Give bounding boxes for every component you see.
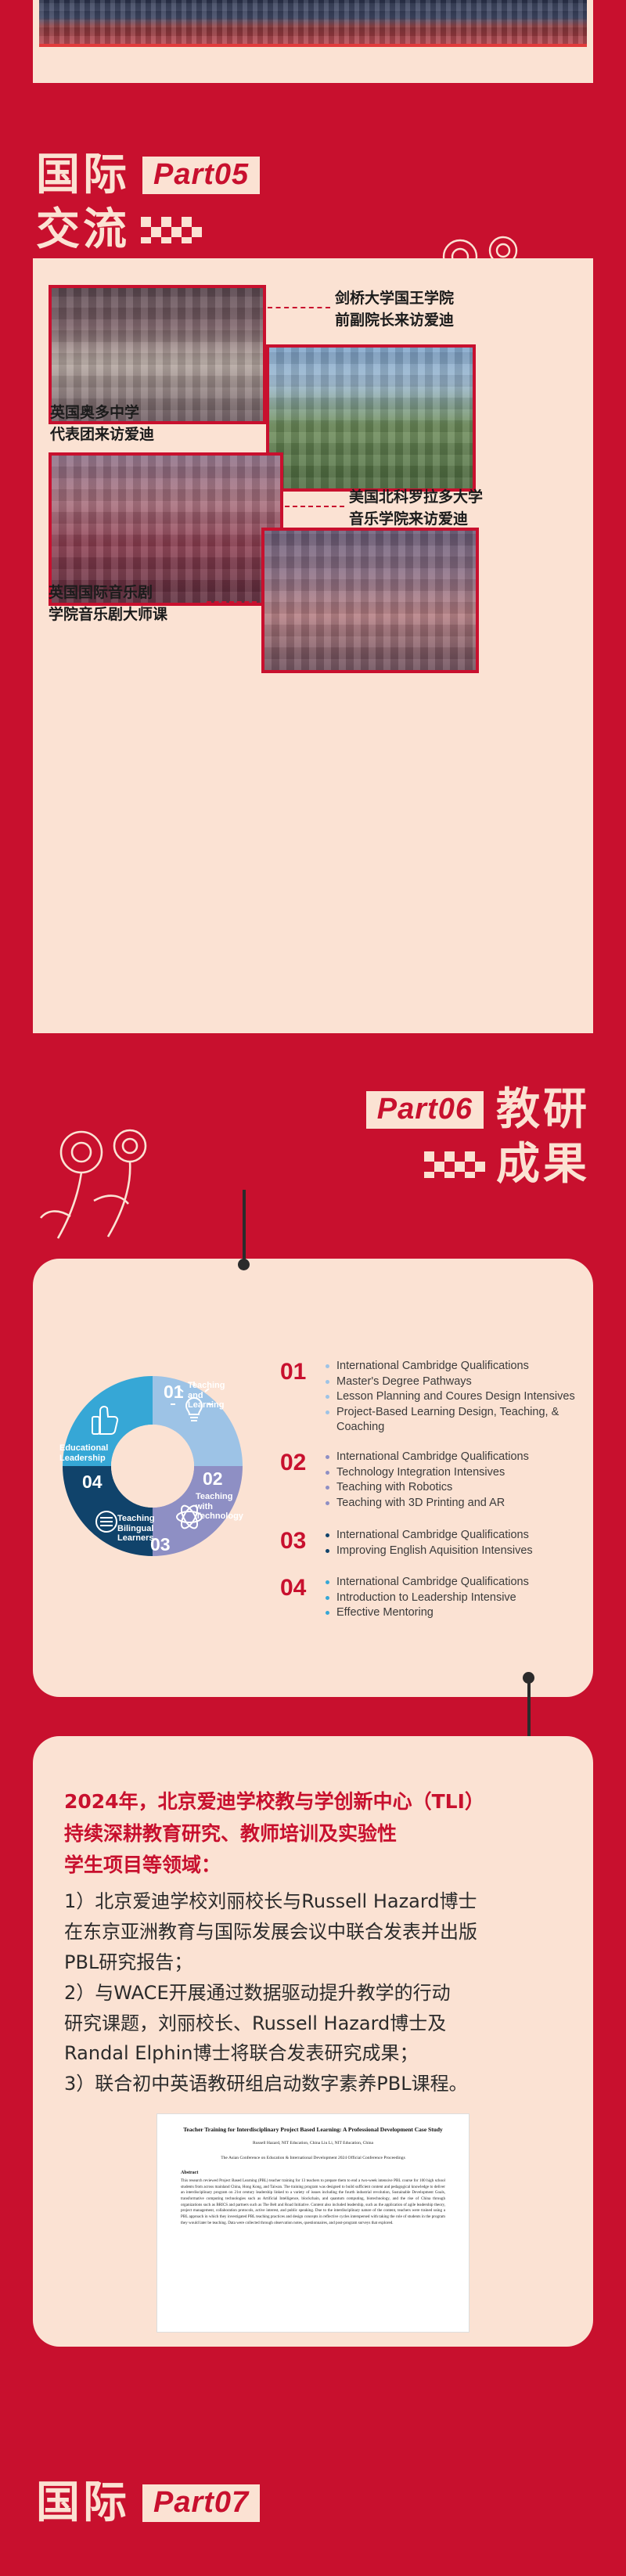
part06-title-cn-line2: 成果: [496, 1143, 590, 1187]
paper-authors: Russell Hazard, NIT Education, China Liu…: [181, 2140, 445, 2146]
donut-num-01: 01: [164, 1382, 184, 1403]
donut-num-02: 02: [203, 1468, 223, 1490]
group-num-02: 02: [280, 1450, 318, 1511]
paper-abstract: This research reviewed Project Based Lea…: [181, 2178, 445, 2226]
scallop-divider-top: [33, 83, 593, 100]
flower-doodle-icon-2: [33, 1119, 182, 1245]
group-num-01: 01: [280, 1359, 318, 1436]
scallop-divider-bottom: [33, 1033, 593, 1050]
framework-group-04: 04 International Cambridge Qualification…: [280, 1575, 577, 1621]
part06-title-cn-line1: 教研: [496, 1088, 590, 1132]
donut-label-02: Teaching with Technology: [196, 1492, 247, 1522]
top-group-photo: [39, 0, 587, 47]
donut-label-03: Teaching Bilingual Learners: [117, 1514, 166, 1544]
list-item: International Cambridge Qualifications: [326, 1575, 529, 1591]
photo-uk-musical: [261, 528, 479, 673]
pin-line-1: [243, 1190, 246, 1265]
paper-title: Teacher Training for Interdisciplinary P…: [181, 2125, 445, 2134]
list-item: International Cambridge Qualifications: [326, 1450, 529, 1465]
framework-group-01: 01 International Cambridge Qualification…: [280, 1359, 577, 1436]
pin-dot-1: [238, 1259, 250, 1270]
group-num-03: 03: [280, 1528, 318, 1558]
tli-heading: 2024年，北京爱迪学校教与学创新中心（TLI） 持续深耕教育研究、教师培训及实…: [64, 1786, 565, 1882]
donut-label-04: Educational Leadership: [59, 1443, 119, 1463]
leader-line-3: [285, 506, 344, 507]
list-item: Improving English Aquisition Intensives: [326, 1544, 533, 1559]
paper-conference: The Asian Conference on Education & Inte…: [181, 2155, 445, 2161]
paper-abstract-heading: Abstract: [181, 2171, 445, 2175]
checker-pattern-icon: [141, 217, 202, 243]
part06-title-block: Part06 教研 成果: [366, 1088, 590, 1187]
list-item: International Cambridge Qualifications: [326, 1528, 533, 1544]
donut-label-01: Teaching and Learning: [188, 1381, 236, 1410]
list-item: Introduction to Leadership Intensive: [326, 1591, 529, 1606]
part05-title-cn-line2: 交流: [36, 208, 130, 252]
caption-unc-music: 美国北科罗拉多大学 音乐学院来访爱迪: [349, 487, 552, 530]
list-item: Teaching with 3D Printing and AR: [326, 1496, 529, 1511]
framework-group-02: 02 International Cambridge Qualification…: [280, 1450, 577, 1511]
group-list-03: International Cambridge Qualifications I…: [326, 1528, 533, 1558]
part06-badge: Part06: [366, 1091, 484, 1129]
checker-pattern-icon-2: [424, 1151, 485, 1178]
list-item: Technology Integration Intensives: [326, 1465, 529, 1481]
part05-gallery-panel: 剑桥大学国王学院 前副院长来访爱迪 英国奥多中学 代表团来访爱迪 美国北科罗拉多…: [33, 258, 593, 1033]
part05-badge: Part05: [142, 157, 260, 194]
list-item: Master's Degree Pathways: [326, 1374, 577, 1390]
group-num-04: 04: [280, 1575, 318, 1621]
donut-num-04: 04: [82, 1472, 103, 1493]
group-list-02: International Cambridge Qualifications T…: [326, 1450, 529, 1511]
part07-badge: Part07: [142, 2484, 260, 2522]
list-item: International Cambridge Qualifications: [326, 1359, 577, 1374]
paper-preview: Teacher Training for Interdisciplinary P…: [156, 2113, 469, 2333]
list-item: Effective Mentoring: [326, 1605, 529, 1621]
caption-uk-oundle: 英国奥多中学 代表团来访爱迪: [50, 402, 222, 445]
part07-title-cn-line1: 国际: [36, 2481, 130, 2525]
framework-group-03: 03 International Cambridge Qualification…: [280, 1528, 577, 1558]
list-item: Lesson Planning and Coures Design Intens…: [326, 1389, 577, 1405]
part07-title-block: 国际 Part07: [36, 2481, 260, 2525]
pd-framework-donut-chart: 01 Teaching and Learning 02 Teaching wit…: [55, 1368, 250, 1564]
leader-line-1: [268, 307, 330, 308]
tli-body: 1）北京爱迪学校刘丽校长与Russell Hazard博士 在东京亚洲教育与国际…: [64, 1886, 573, 2099]
list-item: Project-Based Learning Design, Teaching,…: [326, 1405, 577, 1436]
group-list-04: International Cambridge Qualifications I…: [326, 1575, 529, 1621]
pin-dot-2: [523, 1672, 534, 1684]
list-item: Teaching with Robotics: [326, 1480, 529, 1496]
caption-cambridge-kings: 剑桥大学国王学院 前副院长来访爱迪: [335, 288, 531, 331]
photo-uk-oundle: [266, 344, 476, 492]
poster-page: 国际 Part05 交流 剑桥大学国王学院 前副院长来访爱迪 英国奥多中学 代表: [0, 0, 626, 2576]
part05-title-cn-line1: 国际: [36, 153, 130, 197]
part05-title-block: 国际 Part05 交流: [36, 153, 260, 252]
caption-uk-musical: 英国国际音乐剧 学院音乐剧大师课: [49, 582, 228, 625]
group-list-01: International Cambridge Qualifications M…: [326, 1359, 577, 1436]
